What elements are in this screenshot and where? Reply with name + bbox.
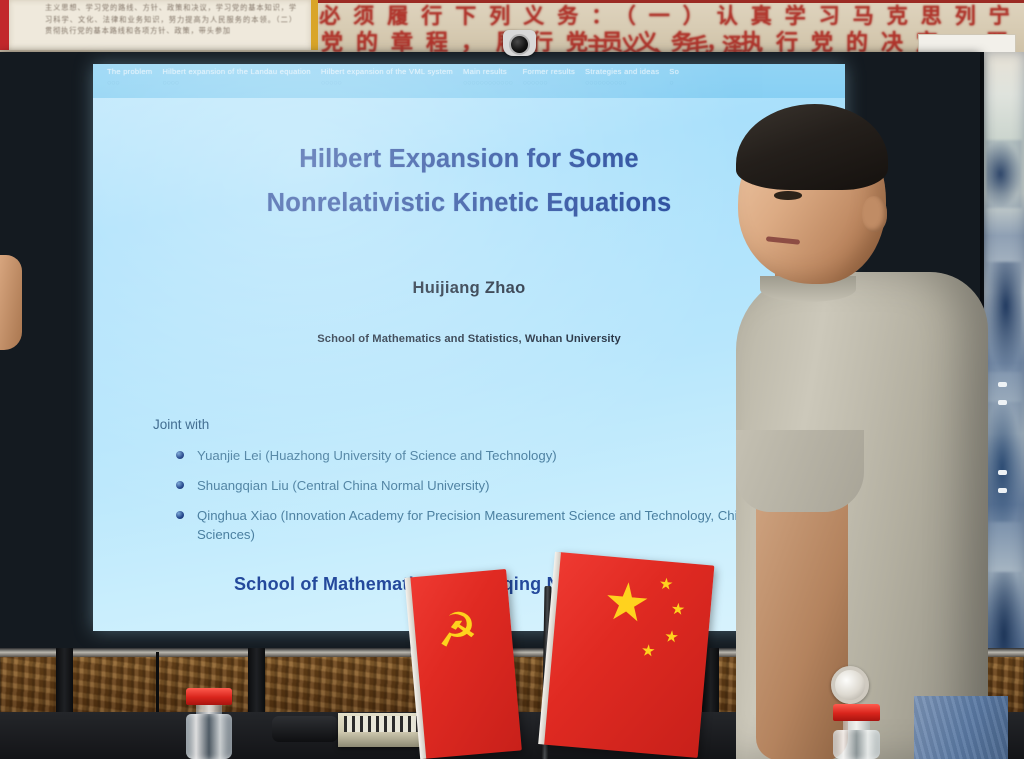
nav-section-label: Main results — [463, 67, 513, 76]
nav-section-dots: ○○○○○○○○○○ — [585, 78, 659, 87]
nav-section-dots: ○ — [669, 78, 679, 87]
bottle-body — [833, 730, 880, 759]
left-poster: 主义思想、学习党的路线、方针、政策和决议，学习党的基本知识，学习科学、文化、法律… — [0, 0, 318, 50]
nav-section-label: The problem — [107, 67, 152, 76]
nav-section-label: Hilbert expansion of the Landau equation — [162, 67, 310, 76]
ear — [862, 196, 887, 232]
cable — [660, 652, 663, 710]
nav-section-dots: ○○○ — [107, 78, 152, 87]
nav-section-landau-expansion[interactable]: Hilbert expansion of the Landau equation… — [162, 67, 310, 87]
collaborator-label: Shuangqian Liu (Central China Normal Uni… — [197, 478, 489, 493]
bottle-body — [186, 714, 232, 759]
shirt-sleeve — [736, 430, 864, 512]
bullet-icon — [176, 451, 184, 459]
nav-section-label: Strategies and ideas — [585, 67, 659, 76]
nav-section-main-results[interactable]: Main results ○○○○○○○○○○○○ — [463, 67, 513, 87]
presenter-hair — [736, 104, 888, 190]
wristwatch — [831, 666, 869, 704]
bottle-neck — [196, 705, 223, 714]
water-bottle — [186, 688, 232, 759]
water-bottle — [833, 704, 880, 759]
red-banner-line-2: 党的章程，履行党员义务，执行党的决定，严守党 — [318, 25, 1024, 52]
cable — [156, 652, 159, 712]
camera-lens-icon — [509, 34, 530, 55]
bullet-icon — [176, 511, 184, 519]
nav-section-vml-expansion[interactable]: Hilbert expansion of the VML system ○○○○… — [321, 67, 453, 87]
beamer-navigation-bar[interactable]: The problem ○○○ Hilbert expansion of the… — [93, 64, 845, 98]
mouth — [766, 236, 800, 245]
joint-with-label: Joint with — [153, 417, 209, 432]
nav-section-strategies-and-ideas[interactable]: Strategies and ideas ○○○○○○○○○○ — [585, 67, 659, 87]
red-slogan-banner: 必须履行下列义务：（一）认真学习马克思列宁主义、毛泽 党的章程，履行党员义务，执… — [318, 0, 1024, 52]
partial-person-left-edge — [0, 255, 22, 350]
presenter-trousers — [914, 696, 1008, 759]
nav-section-dots: ○○○○○ — [321, 78, 453, 87]
nav-section-label: Former results — [523, 67, 575, 76]
bottle-cap — [186, 688, 232, 705]
bottle-neck — [843, 721, 870, 730]
camera-icon — [503, 30, 536, 56]
nav-section-label: So — [669, 67, 679, 76]
collaborator-label: Yuanjie Lei (Huazhong University of Scie… — [197, 448, 557, 463]
eye — [774, 191, 802, 200]
black-device — [272, 716, 338, 742]
left-poster-text: 主义思想、学习党的路线、方针、政策和决议，学习党的基本知识，学习科学、文化、法律… — [45, 2, 297, 37]
nav-section-dots: ○○○○ — [162, 78, 310, 87]
nav-section-former-results[interactable]: Former results ○○○○○○ — [523, 67, 575, 87]
nav-section-dots: ○○○○○○○○○○○○ — [463, 78, 513, 87]
presenter — [718, 100, 1008, 759]
lecture-photo-scene: 主义思想、学习党的路线、方针、政策和决议，学习党的基本知识，学习科学、文化、法律… — [0, 0, 1024, 759]
nav-section-label: Hilbert expansion of the VML system — [321, 67, 453, 76]
book-stack — [338, 713, 430, 747]
bottle-cap — [833, 704, 880, 721]
nav-section-truncated[interactable]: So ○ — [669, 67, 679, 87]
book-pages — [344, 716, 424, 732]
nav-section-the-problem[interactable]: The problem ○○○ — [107, 67, 152, 87]
bullet-icon — [176, 481, 184, 489]
nav-section-dots: ○○○○○○ — [523, 78, 575, 87]
